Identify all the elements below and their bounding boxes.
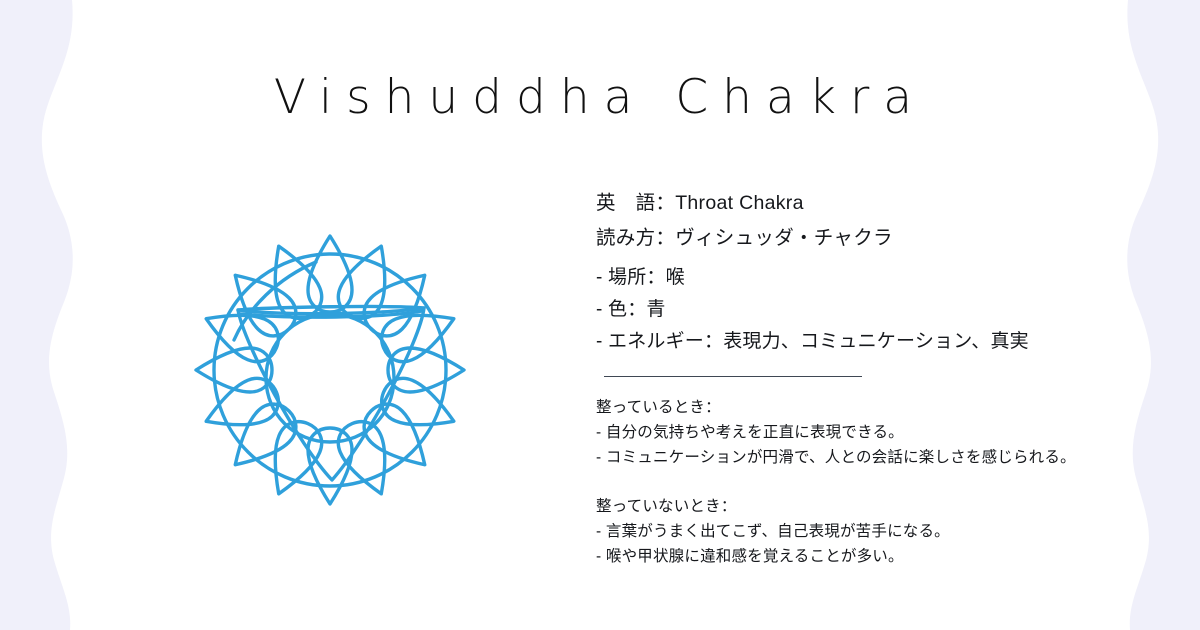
poster-canvas: Vishuddha Chakra — [0, 0, 1200, 630]
info-panel: 英 語：Throat Chakra 読み方：ヴィシュッダ・チャクラ - 場所：喉… — [596, 186, 1156, 569]
list-item: - 自分の気持ちや考えを正直に表現できる。 — [596, 420, 1156, 445]
reading-line: 読み方：ヴィシュッダ・チャクラ — [596, 221, 1156, 256]
attribute-energy: - エネルギー：表現力、コミュニケーション、真実 — [596, 326, 1156, 358]
imbalanced-state-heading: 整っていないとき： — [596, 494, 1156, 519]
vishuddha-chakra-symbol — [152, 192, 508, 548]
list-item: - 言葉がうまく出てこず、自己表現が苦手になる。 — [596, 519, 1156, 544]
attribute-location: - 場所：喉 — [596, 262, 1156, 294]
attribute-list: - 場所：喉 - 色：青 - エネルギー：表現力、コミュニケーション、真実 — [596, 262, 1156, 358]
list-item: - コミュニケーションが円滑で、人との会話に楽しさを感じられる。 — [596, 445, 1156, 470]
page-title: Vishuddha Chakra — [0, 70, 1200, 126]
balanced-state-block: 整っているとき： - 自分の気持ちや考えを正直に表現できる。 - コミュニケーシ… — [596, 395, 1156, 470]
imbalanced-state-block: 整っていないとき： - 言葉がうまく出てこず、自己表現が苦手になる。 - 喉や甲… — [596, 494, 1156, 569]
section-divider — [604, 376, 862, 377]
imbalanced-state-list: - 言葉がうまく出てこず、自己表現が苦手になる。 - 喉や甲状腺に違和感を覚える… — [596, 519, 1156, 569]
english-name-line: 英 語：Throat Chakra — [596, 186, 1156, 221]
balanced-state-list: - 自分の気持ちや考えを正直に表現できる。 - コミュニケーションが円滑で、人と… — [596, 420, 1156, 470]
list-item: - 喉や甲状腺に違和感を覚えることが多い。 — [596, 544, 1156, 569]
balanced-state-heading: 整っているとき： — [596, 395, 1156, 420]
attribute-color: - 色：青 — [596, 294, 1156, 326]
